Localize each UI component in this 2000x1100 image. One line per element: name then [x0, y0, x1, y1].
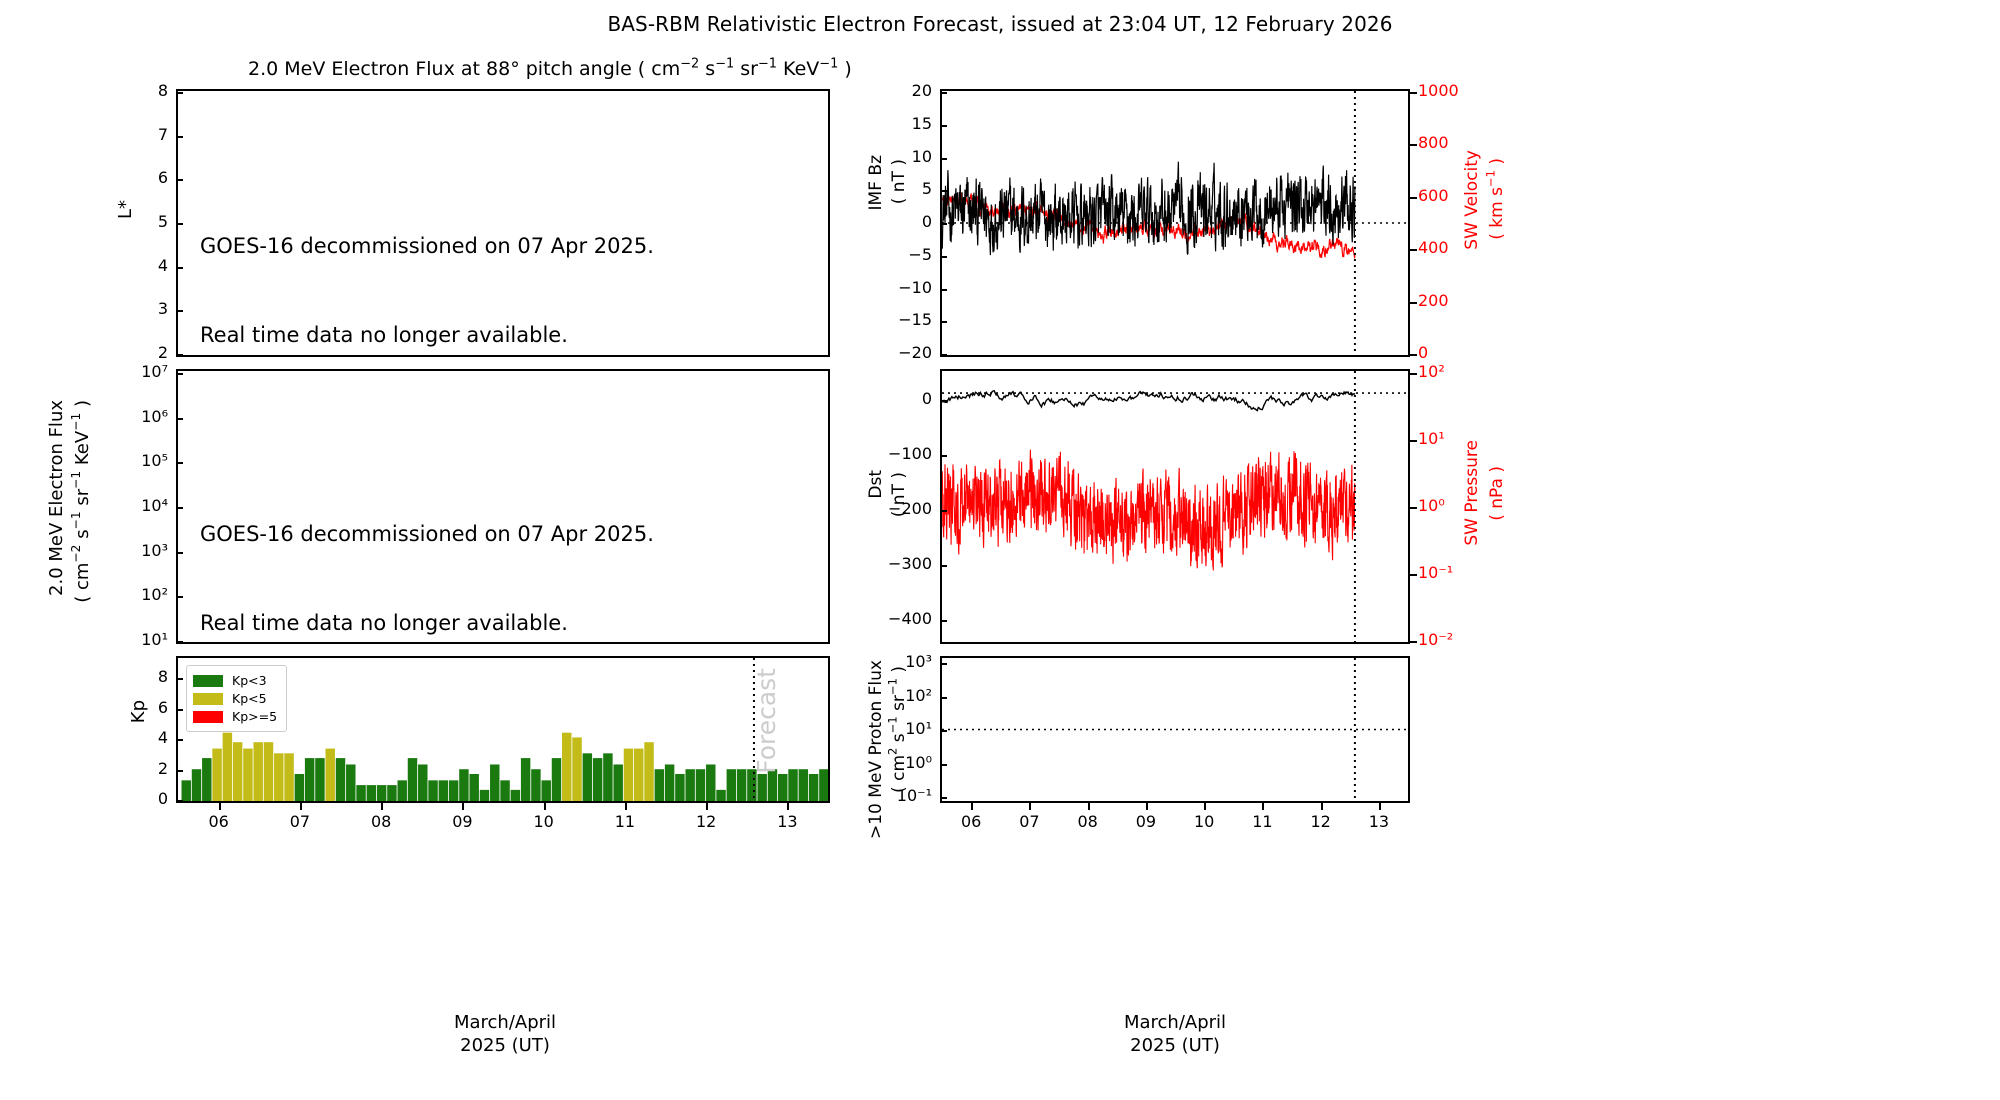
- tick-mark: [1146, 803, 1148, 810]
- degree-symbol: °: [510, 58, 520, 80]
- swp-tick-right-4: 10⁻²: [1418, 630, 1453, 649]
- tick-mark: [1088, 803, 1090, 810]
- proton-xtick-10: 10: [1188, 812, 1220, 831]
- swv-tick-right-4: 200: [1418, 291, 1449, 310]
- exponent: −1: [715, 57, 734, 72]
- exponent: −1: [69, 471, 83, 489]
- tick-mark: [1410, 373, 1417, 375]
- swv-tick-right-2: 600: [1418, 186, 1449, 205]
- exponent: −1: [758, 57, 777, 72]
- kp-x-caption-line2: 2025 (UT): [380, 1035, 630, 1058]
- bz-tick-left-8: −20: [0, 343, 932, 362]
- tick-mark: [940, 321, 947, 323]
- exponent: −2: [680, 57, 699, 72]
- tick-mark: [176, 739, 183, 741]
- tick-mark: [940, 730, 947, 732]
- tick-mark: [1262, 803, 1264, 810]
- dst-tick-left-4: −400: [0, 609, 932, 628]
- tick-mark: [940, 565, 947, 567]
- swp-tick-right-2: 10⁰: [1418, 496, 1445, 515]
- tick-mark: [940, 190, 947, 192]
- subtitle-part: sr: [734, 58, 758, 80]
- tick-mark: [1029, 803, 1031, 810]
- tick-mark: [940, 620, 947, 622]
- tick-mark: [1410, 197, 1417, 199]
- sw-velocity-label-line1: SW Velocity: [1462, 150, 1482, 250]
- tick-mark: [176, 709, 183, 711]
- swv-tick-right-5: 0: [1418, 343, 1428, 362]
- proton-tick-2: 10¹: [0, 719, 932, 738]
- kp-xtick-11: 11: [609, 812, 641, 831]
- tick-mark: [940, 697, 947, 699]
- tick-mark: [1410, 92, 1417, 94]
- tick-mark: [1410, 144, 1417, 146]
- proton-tick-3: 10⁰: [0, 753, 932, 772]
- kp-xtick-13: 13: [771, 812, 803, 831]
- tick-mark: [940, 400, 947, 402]
- tick-mark: [1410, 302, 1417, 304]
- tick-mark: [176, 136, 183, 138]
- tick-mark: [940, 510, 947, 512]
- tick-mark: [1204, 803, 1206, 810]
- sw-pressure-trace: [942, 450, 1355, 571]
- dst-y-label-line1: Dst: [866, 470, 886, 499]
- kp-x-caption: March/April 2025 (UT): [380, 1012, 630, 1057]
- dst-tick-left-2: −200: [0, 499, 932, 518]
- dst-tick-left-3: −300: [0, 554, 932, 573]
- kp-xtick-12: 12: [690, 812, 722, 831]
- subtitle-part: ): [838, 58, 851, 80]
- tick-mark: [940, 223, 947, 225]
- bz-tick-left-4: 0: [0, 212, 932, 231]
- flux-message-line1: GOES-16 decommissioned on 07 Apr 2025.: [200, 520, 654, 550]
- sw-velocity-label-line2: ( km s−1 ): [1487, 158, 1507, 240]
- proton-tick-1: 10²: [0, 686, 932, 705]
- dst-timeseries: [942, 371, 1408, 642]
- imf-bz-timeseries: [942, 91, 1408, 355]
- kp-xtick-10: 10: [528, 812, 560, 831]
- flux-tick-0: 10⁷: [0, 362, 168, 381]
- subtitle-part: KeV: [777, 58, 819, 80]
- exponent: −1: [819, 57, 838, 72]
- sw-pressure-label-line2: ( nPa ): [1487, 466, 1507, 521]
- panel-proton-flux: [940, 656, 1410, 803]
- tick-mark: [1410, 507, 1417, 509]
- tick-mark: [940, 256, 947, 258]
- tick-mark: [940, 92, 947, 94]
- imf-bz-trace: [942, 162, 1355, 255]
- proton-x-caption-line2: 2025 (UT): [1050, 1035, 1300, 1058]
- subtitle-part: pitch angle ( cm: [520, 58, 681, 80]
- page-title: BAS-RBM Relativistic Electron Forecast, …: [0, 12, 2000, 36]
- tick-mark: [1410, 249, 1417, 251]
- unit-part: ( km s: [1487, 187, 1507, 240]
- tick-mark: [940, 797, 947, 799]
- proton-xtick-09: 09: [1130, 812, 1162, 831]
- bz-tick-left-0: 20: [0, 81, 932, 100]
- swv-tick-right-3: 400: [1418, 238, 1449, 257]
- swv-tick-right-0: 1000: [1418, 81, 1459, 100]
- proton-x-caption-line1: March/April: [1050, 1012, 1300, 1035]
- kp-xtick-06: 06: [203, 812, 235, 831]
- tick-mark: [940, 764, 947, 766]
- bz-tick-left-7: −15: [0, 310, 932, 329]
- bz-tick-left-6: −10: [0, 278, 932, 297]
- swp-tick-right-1: 10¹: [1418, 429, 1445, 448]
- tick-mark: [940, 455, 947, 457]
- swv-tick-right-1: 800: [1418, 133, 1449, 152]
- flux-tick-6: 10¹: [0, 630, 168, 649]
- kp-x-caption-line1: March/April: [380, 1012, 630, 1035]
- subtitle-part: s: [699, 58, 715, 80]
- tick-mark: [1410, 440, 1417, 442]
- lstar-subtitle: 2.0 MeV Electron Flux at 88° pitch angle…: [248, 58, 852, 80]
- kp-xtick-09: 09: [446, 812, 478, 831]
- tick-mark: [940, 663, 947, 665]
- tick-mark: [176, 373, 183, 375]
- bz-tick-left-5: −5: [0, 245, 932, 264]
- dst-tick-left-1: −100: [0, 444, 932, 463]
- proton-tick-4: 10⁻¹: [0, 786, 932, 805]
- swp-tick-right-0: 10²: [1418, 362, 1445, 381]
- proton-tick-0: 10³: [0, 652, 932, 671]
- bz-tick-left-1: 15: [0, 114, 932, 133]
- swp-tick-right-3: 10⁻¹: [1418, 563, 1453, 582]
- proton-xtick-13: 13: [1363, 812, 1395, 831]
- proton-flux-timeseries: [942, 658, 1408, 801]
- proton-x-caption: March/April 2025 (UT): [1050, 1012, 1300, 1057]
- proton-xtick-08: 08: [1072, 812, 1104, 831]
- tick-mark: [1410, 354, 1417, 356]
- tick-mark: [176, 418, 183, 420]
- tick-mark: [176, 678, 183, 680]
- tick-mark: [940, 289, 947, 291]
- bz-tick-left-3: 5: [0, 179, 932, 198]
- tick-mark: [940, 158, 947, 160]
- tick-mark: [971, 803, 973, 810]
- kp-xtick-08: 08: [365, 812, 397, 831]
- tick-mark: [940, 125, 947, 127]
- unit-part: ): [1487, 158, 1507, 170]
- proton-xtick-12: 12: [1305, 812, 1337, 831]
- tick-mark: [176, 596, 183, 598]
- tick-mark: [1410, 641, 1417, 643]
- tick-mark: [940, 354, 947, 356]
- panel-dst: [940, 369, 1410, 644]
- panel-imf-bz: [940, 89, 1410, 357]
- subtitle-part: 2.0 MeV Electron Flux at 88: [248, 58, 510, 80]
- exponent: −1: [69, 413, 83, 431]
- proton-xtick-06: 06: [955, 812, 987, 831]
- tick-mark: [1410, 574, 1417, 576]
- proton-xtick-07: 07: [1013, 812, 1045, 831]
- dst-tick-left-0: 0: [0, 389, 932, 408]
- tick-mark: [1379, 803, 1381, 810]
- tick-mark: [176, 267, 183, 269]
- kp-xtick-07: 07: [284, 812, 316, 831]
- sw-pressure-label-line1: SW Pressure: [1462, 440, 1482, 546]
- proton-xtick-11: 11: [1246, 812, 1278, 831]
- unit-part: s: [72, 529, 93, 544]
- tick-mark: [176, 641, 183, 643]
- bz-tick-left-2: 10: [0, 147, 932, 166]
- exponent: −1: [1483, 170, 1497, 187]
- tick-mark: [1321, 803, 1323, 810]
